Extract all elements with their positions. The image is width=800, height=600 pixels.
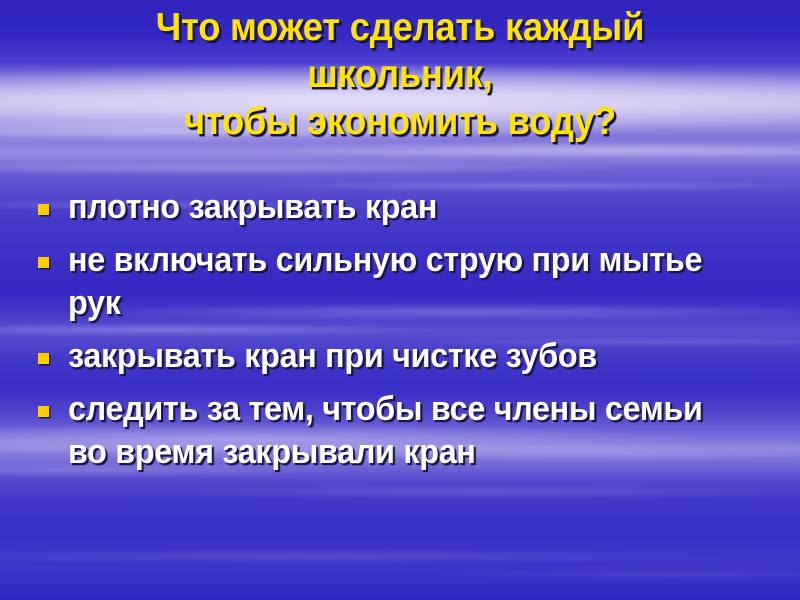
- slide-title: Что может сделать каждый школьник, чтобы…: [0, 4, 800, 145]
- list-item: не включать сильную струю при мытье рук: [0, 239, 800, 325]
- list-item: плотно закрывать кран: [0, 186, 800, 229]
- list-item-label: не включать сильную струю при мытье рук: [68, 239, 735, 325]
- list-item-label: плотно закрывать кран: [68, 186, 735, 229]
- list-item: следить за тем, чтобы все члены семьи во…: [0, 388, 800, 474]
- list-item-label: закрывать кран при чистке зубов: [68, 335, 735, 378]
- square-bullet-icon: [38, 257, 49, 268]
- square-bullet-icon: [38, 204, 49, 215]
- title-line-2: школьник,: [28, 51, 772, 98]
- slide-content: Что может сделать каждый школьник, чтобы…: [0, 0, 800, 600]
- square-bullet-icon: [38, 406, 49, 417]
- title-line-3: чтобы экономить воду?: [28, 98, 772, 145]
- list-item: закрывать кран при чистке зубов: [0, 335, 800, 378]
- slide-bullet-list: плотно закрывать кран не включать сильну…: [0, 186, 800, 484]
- list-item-label: следить за тем, чтобы все члены семьи во…: [68, 388, 735, 474]
- square-bullet-icon: [38, 353, 49, 364]
- title-line-1: Что может сделать каждый: [28, 4, 772, 51]
- presentation-slide: Что может сделать каждый школьник, чтобы…: [0, 0, 800, 600]
